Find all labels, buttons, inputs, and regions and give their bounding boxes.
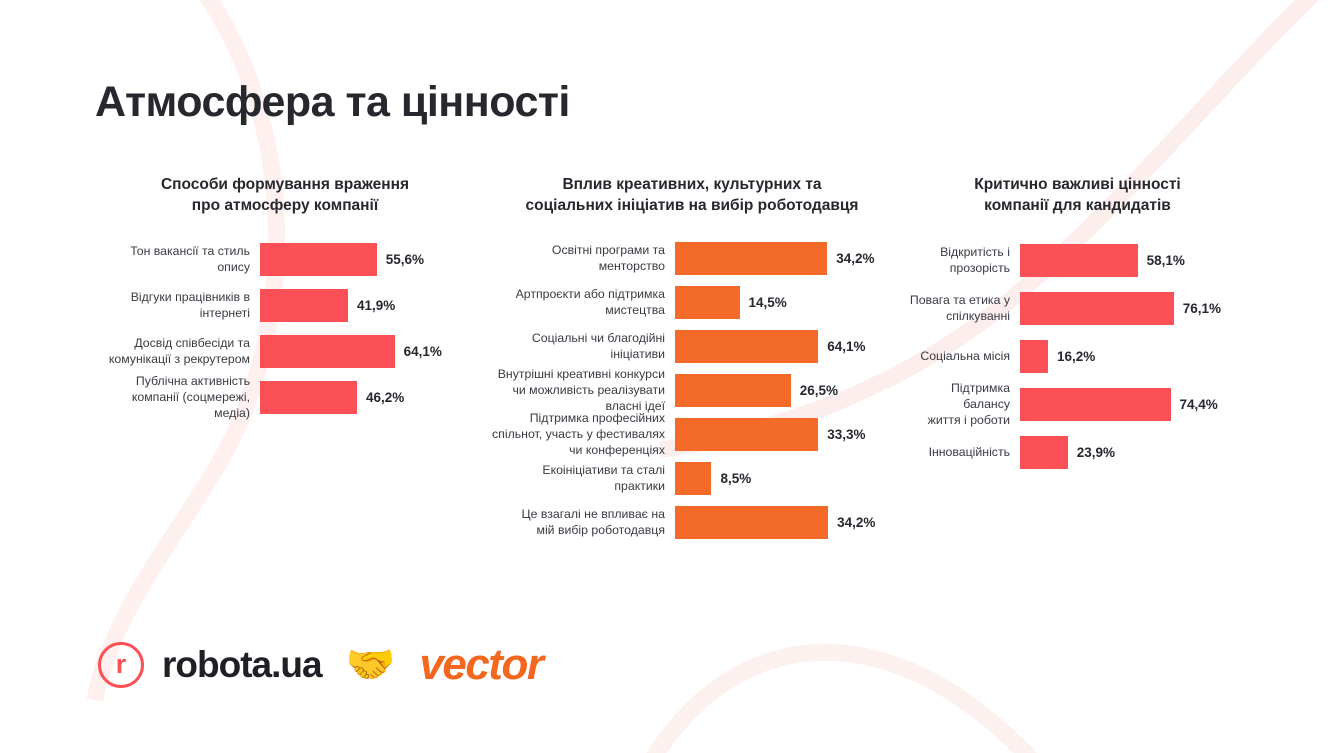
chart-bar-row[interactable]: Соціальна місія16,2% bbox=[905, 333, 1250, 381]
chart-bar-row[interactable]: Публічна активність компанії (соцмережі,… bbox=[100, 375, 470, 421]
chart-title-line: компанії для кандидатів bbox=[905, 196, 1250, 217]
footer-branding: r robota.ua 🤝 vector bbox=[98, 640, 542, 690]
bar[interactable] bbox=[675, 506, 828, 539]
bar-category-label: Відгуки працівників в інтернеті bbox=[100, 290, 260, 322]
bar-category-label: Екоініціативи та сталі практики bbox=[492, 463, 675, 495]
bar-area: 58,1% bbox=[1020, 237, 1250, 285]
bar[interactable] bbox=[1020, 292, 1174, 325]
bar[interactable] bbox=[260, 243, 377, 276]
bar-value-label: 23,9% bbox=[1077, 445, 1115, 460]
bar-value-label: 16,2% bbox=[1057, 349, 1095, 364]
chart-bar-row[interactable]: Це взагалі не впливає на мій вибір робот… bbox=[492, 501, 892, 545]
chart-title-line: Способи формування враження bbox=[100, 175, 470, 196]
chart-bar-row[interactable]: Відкритість і прозорість58,1% bbox=[905, 237, 1250, 285]
bar-area: 33,3% bbox=[675, 413, 892, 457]
chart-bar-row[interactable]: Підтримка професійних спільнот, участь у… bbox=[492, 413, 892, 457]
bar-category-label: Підтримка балансу життя і роботи bbox=[905, 381, 1020, 429]
chart-title-line: про атмосферу компанії bbox=[100, 196, 470, 217]
bar-category-label: Інноваційність bbox=[905, 445, 1020, 461]
chart-panel-critical-values: Критично важливі цінностікомпанії для ка… bbox=[905, 175, 1250, 503]
chart-body: Відкритість і прозорість58,1%Повага та е… bbox=[905, 237, 1250, 503]
bar[interactable] bbox=[1020, 340, 1048, 373]
robota-circle-r-icon: r bbox=[98, 642, 144, 688]
page-title: Атмосфера та цінності bbox=[95, 78, 570, 127]
bar-category-label: Публічна активність компанії (соцмережі,… bbox=[100, 374, 260, 422]
chart-bar-row[interactable]: Інноваційність23,9% bbox=[905, 429, 1250, 477]
bar-area: 46,2% bbox=[260, 375, 470, 421]
bar-value-label: 64,1% bbox=[827, 339, 865, 354]
bar-value-label: 41,9% bbox=[357, 298, 395, 313]
chart-bar-row[interactable]: Підтримка балансу життя і роботи74,4% bbox=[905, 381, 1250, 429]
bar[interactable] bbox=[675, 242, 827, 275]
bar-area: 16,2% bbox=[1020, 333, 1250, 381]
bar[interactable] bbox=[675, 418, 818, 451]
bar-category-label: Повага та етика у спілкуванні bbox=[905, 293, 1020, 325]
bar[interactable] bbox=[260, 381, 357, 414]
bar-value-label: 8,5% bbox=[720, 471, 751, 486]
chart-panel-impression-sources: Способи формування враженняпро атмосферу… bbox=[100, 175, 470, 447]
chart-bar-row[interactable]: Екоініціативи та сталі практики8,5% bbox=[492, 457, 892, 501]
vector-wordmark: vector bbox=[419, 640, 542, 690]
chart-body: Освітні програми та менторство34,2%Артпр… bbox=[492, 237, 892, 571]
bar[interactable] bbox=[675, 330, 818, 363]
bar-area: 26,5% bbox=[675, 369, 892, 413]
bar-area: 76,1% bbox=[1020, 285, 1250, 333]
chart-rows: Відкритість і прозорість58,1%Повага та е… bbox=[905, 237, 1250, 477]
bar-category-label: Внутрішні креативні конкурси чи можливіс… bbox=[492, 367, 675, 415]
bar-area: 74,4% bbox=[1020, 381, 1250, 429]
bar-area: 64,1% bbox=[260, 329, 470, 375]
bar-value-label: 34,2% bbox=[837, 515, 875, 530]
bar-value-label: 58,1% bbox=[1147, 253, 1185, 268]
bar-value-label: 76,1% bbox=[1183, 301, 1221, 316]
bar-area: 8,5% bbox=[675, 457, 892, 501]
bar-category-label: Тон вакансії та стиль опису bbox=[100, 244, 260, 276]
chart-x-axis: 010203040 bbox=[492, 545, 892, 571]
bar-value-label: 26,5% bbox=[800, 383, 838, 398]
bar-category-label: Досвід співбесіди та комунікації з рекру… bbox=[100, 336, 260, 368]
bar-value-label: 14,5% bbox=[749, 295, 787, 310]
chart-title-line: Критично важливі цінності bbox=[905, 175, 1250, 196]
bar[interactable] bbox=[1020, 388, 1171, 421]
chart-title-chart-impression-sources: Способи формування враженняпро атмосферу… bbox=[100, 175, 470, 217]
chart-x-axis: 020406080100 bbox=[905, 477, 1250, 503]
chart-bar-row[interactable]: Внутрішні креативні конкурси чи можливіс… bbox=[492, 369, 892, 413]
bar-area: 55,6% bbox=[260, 237, 470, 283]
chart-rows: Тон вакансії та стиль опису55,6%Відгуки … bbox=[100, 237, 470, 421]
chart-title-line: соціальних ініціатив на вибір роботодавц… bbox=[492, 196, 892, 217]
slide: Атмосфера та цінності Способи формування… bbox=[0, 0, 1338, 753]
chart-bar-row[interactable]: Відгуки працівників в інтернеті41,9% bbox=[100, 283, 470, 329]
bar-value-label: 34,2% bbox=[836, 251, 874, 266]
bar-area: 23,9% bbox=[1020, 429, 1250, 477]
bar-category-label: Артпроєкти або підтримка мистецтва bbox=[492, 287, 675, 319]
bar-category-label: Соціальні чи благодійні ініціативи bbox=[492, 331, 675, 363]
bar-category-label: Відкритість і прозорість bbox=[905, 245, 1020, 277]
bar-area: 34,2% bbox=[675, 501, 892, 545]
chart-title-chart-critical-values: Критично важливі цінностікомпанії для ка… bbox=[905, 175, 1250, 217]
bar[interactable] bbox=[1020, 244, 1138, 277]
chart-bar-row[interactable]: Соціальні чи благодійні ініціативи64,1% bbox=[492, 325, 892, 369]
chart-title-line: Вплив креативних, культурних та bbox=[492, 175, 892, 196]
bar[interactable] bbox=[675, 286, 740, 319]
bar-category-label: Освітні програми та менторство bbox=[492, 243, 675, 275]
bar-value-label: 64,1% bbox=[404, 344, 442, 359]
chart-bar-row[interactable]: Артпроєкти або підтримка мистецтва14,5% bbox=[492, 281, 892, 325]
bar-value-label: 55,6% bbox=[386, 252, 424, 267]
chart-bar-row[interactable]: Тон вакансії та стиль опису55,6% bbox=[100, 237, 470, 283]
bar[interactable] bbox=[1020, 436, 1068, 469]
bar-category-label: Підтримка професійних спільнот, участь у… bbox=[492, 411, 675, 459]
bar-category-label: Соціальна місія bbox=[905, 349, 1020, 365]
chart-panel-creative-initiatives: Вплив креативних, культурних тасоціальни… bbox=[492, 175, 892, 571]
bar-area: 64,1% bbox=[675, 325, 892, 369]
chart-bar-row[interactable]: Освітні програми та менторство34,2% bbox=[492, 237, 892, 281]
chart-rows: Освітні програми та менторство34,2%Артпр… bbox=[492, 237, 892, 545]
bar[interactable] bbox=[675, 462, 711, 495]
bar-category-label: Це взагалі не впливає на мій вибір робот… bbox=[492, 507, 675, 539]
chart-body: Тон вакансії та стиль опису55,6%Відгуки … bbox=[100, 237, 470, 447]
bar[interactable] bbox=[260, 335, 395, 368]
bar-value-label: 33,3% bbox=[827, 427, 865, 442]
robota-wordmark: robota.ua bbox=[162, 644, 322, 686]
chart-x-axis: 020406080 bbox=[100, 421, 470, 447]
bar[interactable] bbox=[260, 289, 348, 322]
bar-value-label: 74,4% bbox=[1180, 397, 1218, 412]
bar-area: 34,2% bbox=[675, 237, 892, 281]
chart-bar-row[interactable]: Досвід співбесіди та комунікації з рекру… bbox=[100, 329, 470, 375]
bar-area: 41,9% bbox=[260, 283, 470, 329]
handshake-icon: 🤝 bbox=[346, 645, 396, 685]
bar-value-label: 46,2% bbox=[366, 390, 404, 405]
chart-bar-row[interactable]: Повага та етика у спілкуванні76,1% bbox=[905, 285, 1250, 333]
bar[interactable] bbox=[675, 374, 791, 407]
chart-title-chart-creative-initiatives-impact: Вплив креативних, культурних тасоціальни… bbox=[492, 175, 892, 217]
bar-area: 14,5% bbox=[675, 281, 892, 325]
